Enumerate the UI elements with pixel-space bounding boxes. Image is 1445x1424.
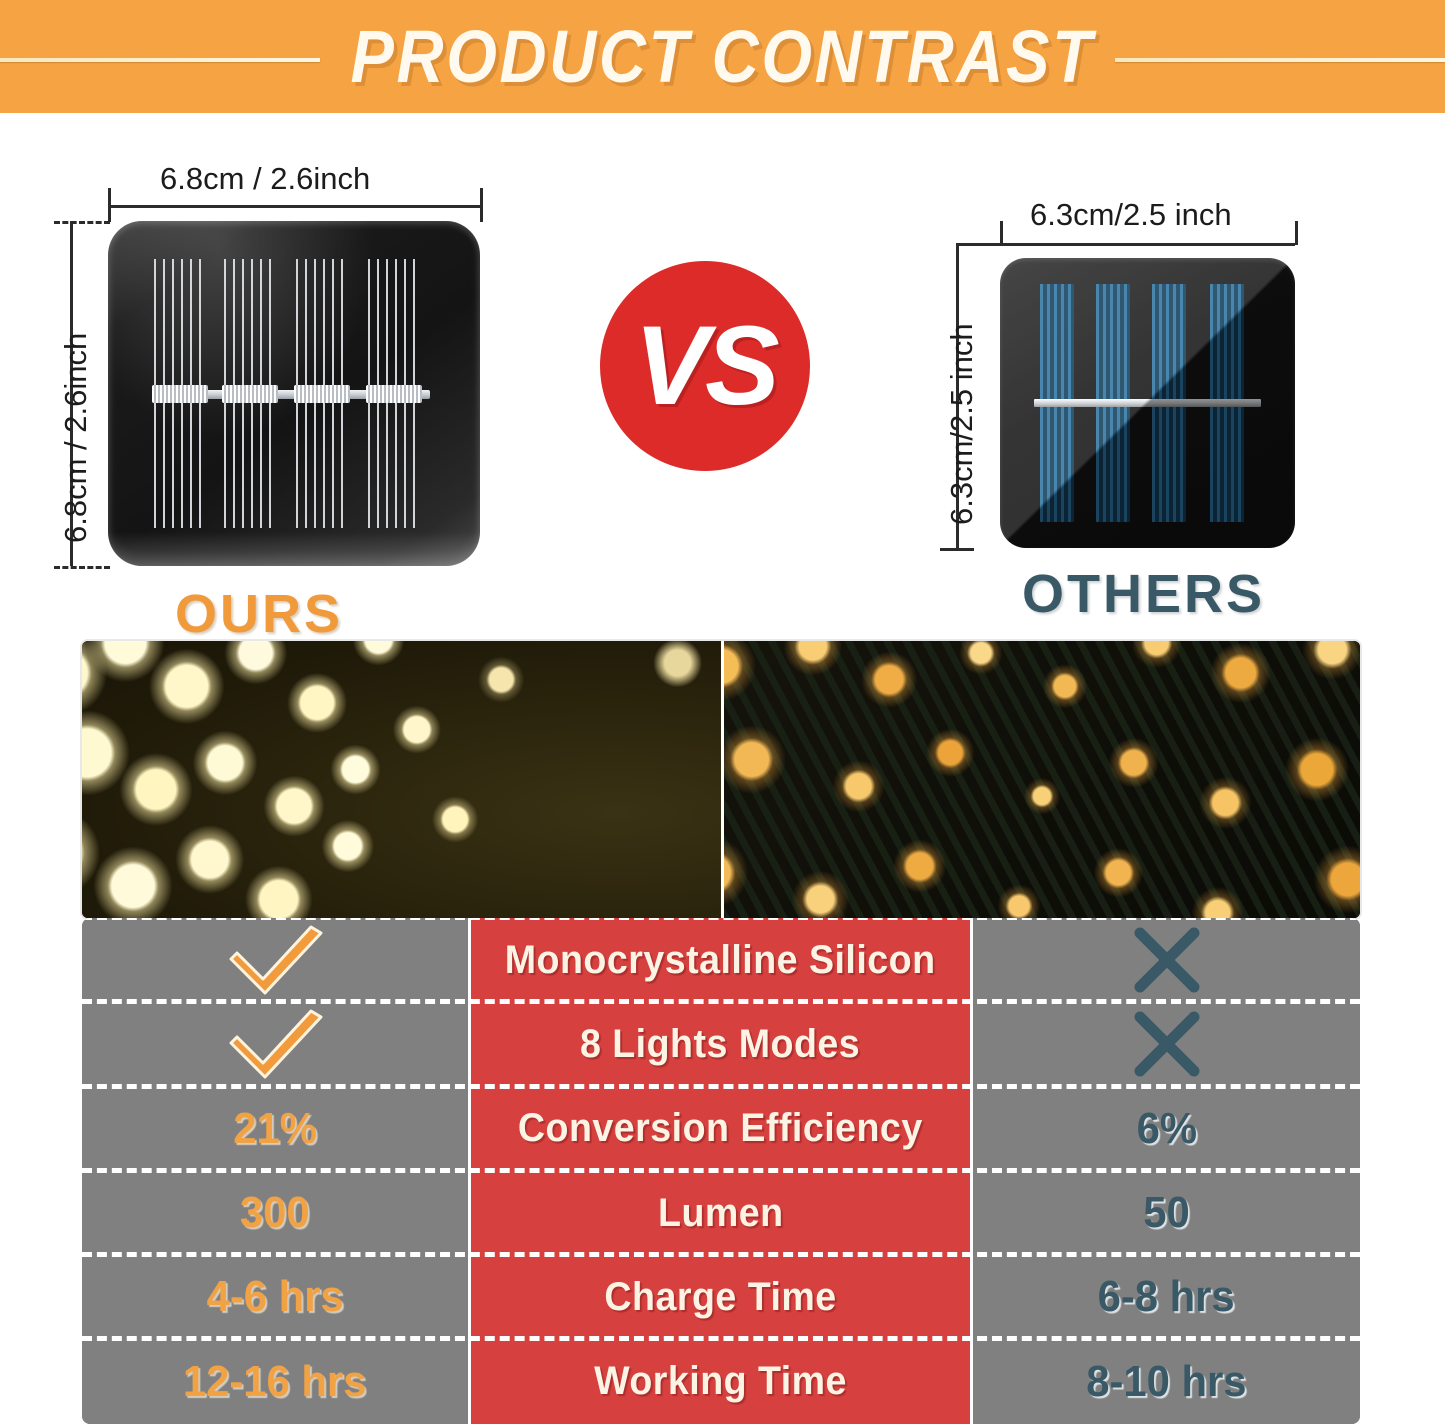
check-icon [221, 1007, 329, 1081]
ours-value: 21% [233, 1104, 317, 1154]
feature-label-cell: Monocrystalline Silicon [468, 918, 973, 1002]
page-title: PRODUCT CONTRAST [87, 14, 1359, 100]
ours-lights-photo [82, 641, 721, 918]
others-lights-photo [721, 641, 1360, 918]
others-width-tick-left [1000, 221, 1003, 245]
table-row: 8 Lights Modes [82, 1002, 1360, 1086]
others-value: 6% [1136, 1104, 1196, 1154]
others-value-cell [973, 918, 1360, 1002]
column-divider-right [970, 918, 973, 1424]
others-width-dimension-line [1000, 243, 1295, 246]
ours-busbar-pad [222, 385, 278, 403]
photo-comparison-strip [82, 641, 1360, 918]
others-value-cell: 6% [973, 1087, 1360, 1171]
ours-busbar-pad [152, 385, 208, 403]
others-value: 50 [1143, 1188, 1190, 1238]
others-corner-connector [956, 243, 1002, 246]
others-width-label: 6.3cm/2.5 inch [1030, 197, 1232, 233]
others-solar-panel-image [1000, 258, 1295, 548]
feature-label: Charge Time [604, 1275, 836, 1320]
panel-comparison-section: 6.8cm / 2.6inch 6.8cm / 2.6inch [0, 113, 1445, 640]
ours-value: 4-6 hrs [206, 1272, 343, 1322]
cross-icon [1130, 923, 1204, 997]
others-value-cell: 8-10 hrs [973, 1339, 1360, 1423]
check-icon [221, 923, 329, 997]
header-banner: PRODUCT CONTRAST [0, 0, 1445, 113]
others-value: 6-8 hrs [1098, 1272, 1235, 1322]
others-width-tick-right [1295, 221, 1298, 245]
feature-label-cell: Conversion Efficiency [468, 1087, 973, 1171]
feature-label: Lumen [658, 1191, 784, 1236]
ours-solar-panel-image [108, 221, 480, 566]
ours-panel-cells [150, 259, 438, 528]
ours-value-cell: 21% [82, 1087, 468, 1171]
ours-value-cell: 12-16 hrs [82, 1339, 468, 1423]
ours-width-label: 6.8cm / 2.6inch [160, 161, 370, 197]
others-caption: OTHERS [1022, 563, 1265, 625]
others-panel-cells [1034, 284, 1261, 522]
ours-busbar-pad [366, 385, 422, 403]
cross-icon [1130, 1007, 1204, 1081]
ours-width-dimension-line [108, 205, 480, 208]
table-row: 12-16 hrs Working Time 8-10 hrs [82, 1339, 1360, 1423]
feature-label-cell: Lumen [468, 1171, 973, 1255]
ours-value-cell [82, 918, 468, 1002]
others-width-value: 6.3cm/2.5 inch [1030, 197, 1232, 232]
ours-value-cell: 300 [82, 1171, 468, 1255]
vs-label: VS [634, 310, 775, 422]
ours-width-value: 6.8cm / 2.6inch [160, 161, 370, 196]
feature-label: Monocrystalline Silicon [505, 938, 936, 983]
others-height-value: 6.3cm/2.5 inch [944, 323, 979, 525]
ours-width-tick-left [108, 188, 111, 222]
ours-value: 300 [240, 1188, 310, 1238]
ours-height-value: 6.8cm / 2.6inch [58, 333, 93, 543]
ours-height-label: 6.8cm / 2.6inch [58, 333, 94, 543]
table-row: 300 Lumen 50 [82, 1171, 1360, 1255]
product-contrast-infographic: PRODUCT CONTRAST 6.8cm / 2.6inch 6.8cm /… [0, 0, 1445, 1424]
table-row: Monocrystalline Silicon [82, 918, 1360, 1002]
ours-value: 12-16 hrs [183, 1357, 367, 1407]
ours-height-tick-top [54, 221, 110, 224]
others-value-cell: 6-8 hrs [973, 1255, 1360, 1339]
table-row: 4-6 hrs Charge Time 6-8 hrs [82, 1255, 1360, 1339]
column-divider-left [468, 918, 471, 1424]
ours-caption: OURS [175, 583, 343, 645]
ours-panel-group: 6.8cm / 2.6inch 6.8cm / 2.6inch [40, 143, 520, 643]
others-panel-group: 6.3cm/2.5 inch 6.3cm/2.5 inch [930, 173, 1350, 643]
table-row: 21% Conversion Efficiency 6% [82, 1087, 1360, 1171]
others-value: 8-10 hrs [1086, 1357, 1246, 1407]
feature-label-cell: Charge Time [468, 1255, 973, 1339]
ours-height-tick-bottom [54, 566, 110, 569]
ours-value-cell: 4-6 hrs [82, 1255, 468, 1339]
ours-value-cell [82, 1002, 468, 1086]
feature-label-cell: Working Time [468, 1339, 973, 1423]
others-height-tick-bottom [940, 548, 974, 551]
vs-badge: VS [600, 261, 810, 471]
others-value-cell [973, 1002, 1360, 1086]
feature-label: 8 Lights Modes [580, 1022, 860, 1067]
ours-busbar-pad [294, 385, 350, 403]
feature-label-cell: 8 Lights Modes [468, 1002, 973, 1086]
others-panel-busbar [1034, 399, 1261, 407]
comparison-table: Monocrystalline Silicon 8 Lights [82, 918, 1360, 1424]
feature-label: Conversion Efficiency [518, 1106, 923, 1151]
ours-width-tick-right [480, 188, 483, 222]
others-value-cell: 50 [973, 1171, 1360, 1255]
feature-label: Working Time [594, 1359, 847, 1404]
others-height-label: 6.3cm/2.5 inch [944, 323, 980, 525]
